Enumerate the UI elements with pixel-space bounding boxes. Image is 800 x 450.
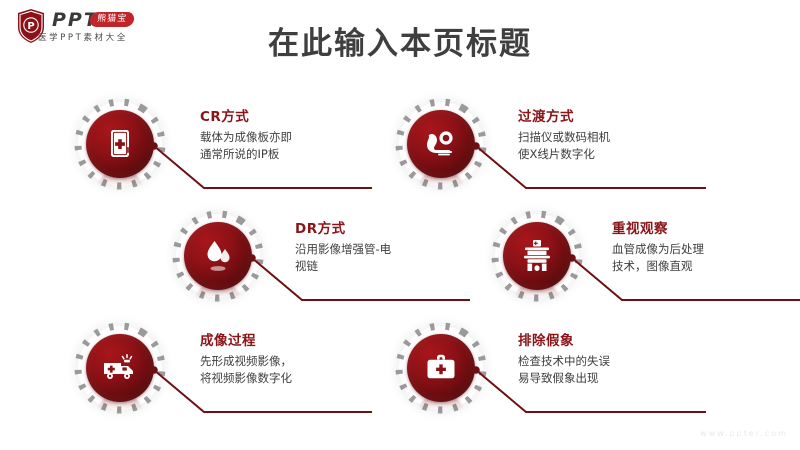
slide-canvas: P PPT 熊猫宝 医学PPT素材大全 在此输入本页标题 [0,0,800,450]
node-heading: 排除假象 [518,329,610,349]
node-dr[interactable] [170,208,266,304]
textblock-imaging: 成像过程 先形成视频影像， 将视频影像数字化 [200,329,292,387]
textblock-artifact: 排除假象 检查技术中的失误 易导致假象出现 [518,329,610,387]
node-disc [407,334,475,402]
node-line: 视链 [295,258,391,275]
textblock-transition: 过渡方式 扫描仪或数码相机 使X线片数字化 [518,105,610,163]
node-line: 技术，图像直观 [612,258,704,275]
node-artifact[interactable] [393,320,489,416]
node-disc [503,222,571,290]
node-line: 先形成视频影像， [200,353,292,370]
node-heading: 过渡方式 [518,105,610,125]
textblock-observe: 重视观察 血管成像为后处理 技术，图像直观 [612,217,704,275]
node-observe[interactable] [489,208,585,304]
node-cr[interactable] [72,96,168,192]
node-disc [184,222,252,290]
node-line: 沿用影像增强管-电 [295,241,391,258]
hand-eye-icon [424,129,458,159]
node-transition[interactable] [393,96,489,192]
node-imaging[interactable] [72,320,168,416]
node-line: 血管成像为后处理 [612,241,704,258]
page-title: 在此输入本页标题 [0,18,800,63]
blood-drops-icon [203,239,233,273]
textblock-cr: CR方式 载体为成像板亦即 通常所说的IP板 [200,105,292,163]
node-heading: CR方式 [200,105,292,125]
node-heading: 重视观察 [612,217,704,237]
textblock-dr: DR方式 沿用影像增强管-电 视链 [295,217,391,275]
watermark: www.ppter.com [700,429,788,438]
node-line: 使X线片数字化 [518,146,610,163]
node-line: 通常所说的IP板 [200,146,292,163]
node-heading: 成像过程 [200,329,292,349]
node-line: 载体为成像板亦即 [200,129,292,146]
node-disc [86,334,154,402]
node-line: 易导致假象出现 [518,370,610,387]
node-line: 扫描仪或数码相机 [518,129,610,146]
node-disc [407,110,475,178]
node-disc [86,110,154,178]
node-line: 检查技术中的失误 [518,353,610,370]
node-line: 将视频影像数字化 [200,370,292,387]
first-aid-kit-icon [425,353,457,383]
medical-card-icon [105,128,135,160]
ambulance-icon [102,353,138,383]
node-heading: DR方式 [295,217,391,237]
hospital-building-icon [521,239,553,273]
